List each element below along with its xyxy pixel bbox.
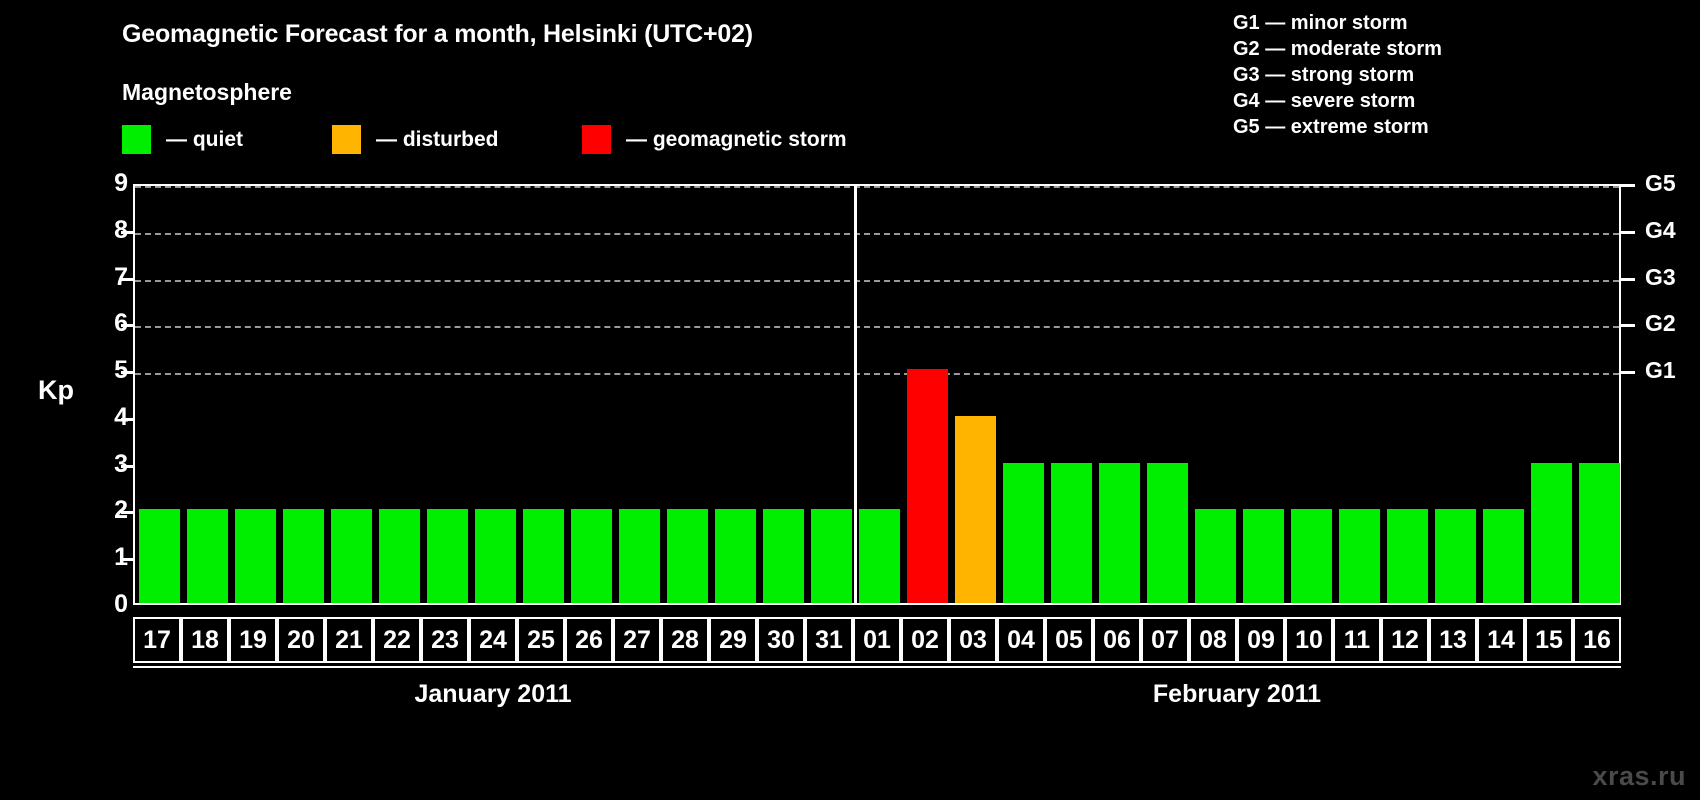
day-cell-06[interactable]: 06 xyxy=(1093,617,1141,663)
bar-day-02[interactable] xyxy=(907,369,948,603)
bar-day-05[interactable] xyxy=(1051,463,1092,603)
bar-day-29[interactable] xyxy=(715,509,756,603)
bar-day-01[interactable] xyxy=(859,509,900,603)
month-caption-2: February 2011 xyxy=(1037,680,1437,709)
day-cell-23[interactable]: 23 xyxy=(421,617,469,663)
day-cell-28[interactable]: 28 xyxy=(661,617,709,663)
g-axis-label-g1: G1 xyxy=(1645,359,1676,382)
day-cell-25[interactable]: 25 xyxy=(517,617,565,663)
bar-day-14[interactable] xyxy=(1483,509,1524,603)
bar-day-28[interactable] xyxy=(667,509,708,603)
day-cell-27[interactable]: 27 xyxy=(613,617,661,663)
bar-day-07[interactable] xyxy=(1147,463,1188,603)
bar-day-20[interactable] xyxy=(283,509,324,603)
y-tick-label-9: 9 xyxy=(88,171,128,196)
bar-day-17[interactable] xyxy=(139,509,180,603)
bar-day-15[interactable] xyxy=(1531,463,1572,603)
bar-day-21[interactable] xyxy=(331,509,372,603)
legend-item-disturbed: — disturbed xyxy=(332,124,499,154)
day-cell-07[interactable]: 07 xyxy=(1141,617,1189,663)
bar-day-26[interactable] xyxy=(571,509,612,603)
bar-day-09[interactable] xyxy=(1243,509,1284,603)
day-cell-15[interactable]: 15 xyxy=(1525,617,1573,663)
g-tick-mark-g2 xyxy=(1621,324,1635,327)
g-tick-mark-g1 xyxy=(1621,371,1635,374)
day-cell-12[interactable]: 12 xyxy=(1381,617,1429,663)
bar-day-27[interactable] xyxy=(619,509,660,603)
g-scale-row-5: G5 — extreme storm xyxy=(1233,114,1442,140)
day-cell-22[interactable]: 22 xyxy=(373,617,421,663)
day-cell-10[interactable]: 10 xyxy=(1285,617,1333,663)
legend-label: — disturbed xyxy=(376,129,499,150)
bar-day-10[interactable] xyxy=(1291,509,1332,603)
day-cell-09[interactable]: 09 xyxy=(1237,617,1285,663)
day-cell-24[interactable]: 24 xyxy=(469,617,517,663)
y-tick-mark-2 xyxy=(121,511,133,514)
watermark: xras.ru xyxy=(1592,761,1686,792)
bar-day-13[interactable] xyxy=(1435,509,1476,603)
bar-day-06[interactable] xyxy=(1099,463,1140,603)
g-scale-row-2: G2 — moderate storm xyxy=(1233,36,1442,62)
bar-series xyxy=(135,186,1619,603)
day-cell-02[interactable]: 02 xyxy=(901,617,949,663)
g-axis-label-g3: G3 xyxy=(1645,266,1676,289)
bar-day-23[interactable] xyxy=(427,509,468,603)
y-tick-label-0: 0 xyxy=(88,592,128,617)
g-scale-row-1: G1 — minor storm xyxy=(1233,10,1442,36)
legend-swatch-disturbed xyxy=(332,125,361,154)
day-cell-26[interactable]: 26 xyxy=(565,617,613,663)
bar-day-16[interactable] xyxy=(1579,463,1620,603)
y-axis-title: Kp xyxy=(38,375,74,406)
y-tick-mark-5 xyxy=(121,371,133,374)
bar-day-03[interactable] xyxy=(955,416,996,603)
day-cell-20[interactable]: 20 xyxy=(277,617,325,663)
y-tick-mark-8 xyxy=(121,231,133,234)
plot-area xyxy=(133,184,1621,605)
g-tick-mark-g5 xyxy=(1621,184,1635,187)
bar-day-19[interactable] xyxy=(235,509,276,603)
bar-day-18[interactable] xyxy=(187,509,228,603)
day-cell-31[interactable]: 31 xyxy=(805,617,853,663)
page-title: Geomagnetic Forecast for a month, Helsin… xyxy=(122,20,753,49)
bar-day-12[interactable] xyxy=(1387,509,1428,603)
month-caption-1: January 2011 xyxy=(293,680,693,709)
day-cell-08[interactable]: 08 xyxy=(1189,617,1237,663)
day-cell-18[interactable]: 18 xyxy=(181,617,229,663)
bar-day-31[interactable] xyxy=(811,509,852,603)
bar-day-24[interactable] xyxy=(475,509,516,603)
g-tick-mark-g3 xyxy=(1621,278,1635,281)
bar-day-25[interactable] xyxy=(523,509,564,603)
bar-day-22[interactable] xyxy=(379,509,420,603)
month-divider-line xyxy=(854,186,857,603)
legend-item-quiet: — quiet xyxy=(122,124,243,154)
legend-swatch-quiet xyxy=(122,125,151,154)
bar-day-08[interactable] xyxy=(1195,509,1236,603)
day-cell-05[interactable]: 05 xyxy=(1045,617,1093,663)
axis-underline xyxy=(133,666,1621,668)
legend-label: — quiet xyxy=(166,129,243,150)
day-cell-04[interactable]: 04 xyxy=(997,617,1045,663)
g-axis-label-g5: G5 xyxy=(1645,172,1676,195)
y-tick-mark-7 xyxy=(121,278,133,281)
bar-day-11[interactable] xyxy=(1339,509,1380,603)
y-tick-mark-4 xyxy=(121,418,133,421)
legend-label: — geomagnetic storm xyxy=(626,129,847,150)
day-cell-16[interactable]: 16 xyxy=(1573,617,1621,663)
y-tick-mark-1 xyxy=(121,558,133,561)
day-cell-29[interactable]: 29 xyxy=(709,617,757,663)
day-cell-19[interactable]: 19 xyxy=(229,617,277,663)
g-scale-row-4: G4 — severe storm xyxy=(1233,88,1442,114)
day-cell-11[interactable]: 11 xyxy=(1333,617,1381,663)
g-axis-label-g2: G2 xyxy=(1645,312,1676,335)
day-cell-14[interactable]: 14 xyxy=(1477,617,1525,663)
g-scale-legend: G1 — minor stormG2 — moderate stormG3 — … xyxy=(1233,10,1442,140)
g-axis-label-g4: G4 xyxy=(1645,219,1676,242)
g-tick-mark-g4 xyxy=(1621,231,1635,234)
legend-item-geomagnetic-storm: — geomagnetic storm xyxy=(582,124,847,154)
y-tick-mark-3 xyxy=(121,465,133,468)
y-tick-mark-6 xyxy=(121,324,133,327)
day-cell-17[interactable]: 17 xyxy=(133,617,181,663)
day-cell-21[interactable]: 21 xyxy=(325,617,373,663)
legend-swatch-storm xyxy=(582,125,611,154)
day-cell-30[interactable]: 30 xyxy=(757,617,805,663)
day-cell-13[interactable]: 13 xyxy=(1429,617,1477,663)
g-scale-row-3: G3 — strong storm xyxy=(1233,62,1442,88)
bar-day-04[interactable] xyxy=(1003,463,1044,603)
day-cell-01[interactable]: 01 xyxy=(853,617,901,663)
magnetosphere-label: Magnetosphere xyxy=(122,79,292,106)
day-cell-03[interactable]: 03 xyxy=(949,617,997,663)
bar-day-30[interactable] xyxy=(763,509,804,603)
